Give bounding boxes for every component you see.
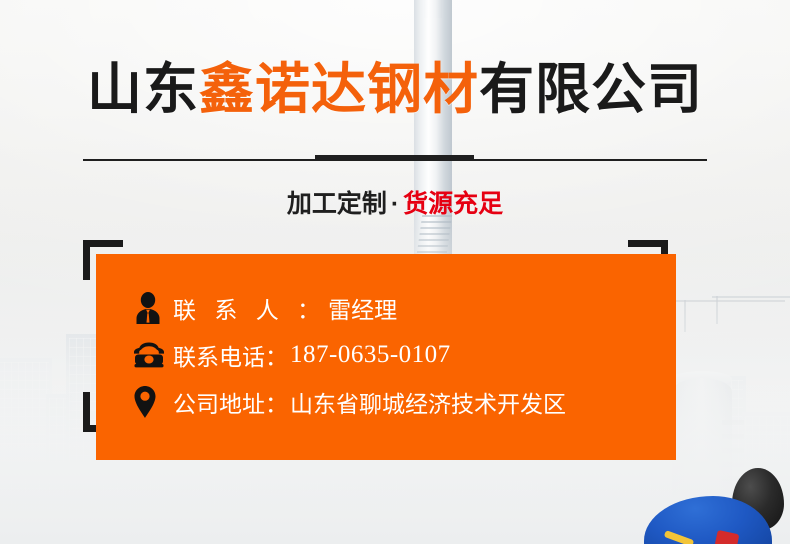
contact-row-address: 公司地址： 山东省聊城经济技术开发区 bbox=[133, 380, 660, 424]
person-icon bbox=[133, 288, 173, 328]
contact-row-person: 联 系 人 ： 雷经理 bbox=[133, 286, 660, 330]
contact-value-address: 山东省聊城经济技术开发区 bbox=[290, 385, 566, 419]
contact-label-person: 联 系 人 ： bbox=[173, 291, 326, 325]
location-pin-icon bbox=[133, 382, 173, 422]
contact-value-phone: 187-0635-0107 bbox=[290, 341, 451, 369]
subtitle-right: 货源充足 bbox=[403, 190, 503, 218]
contact-row-phone: 联系电话： 187-0635-0107 bbox=[133, 333, 660, 377]
contact-label-phone: 联系电话： bbox=[173, 338, 288, 372]
contact-value-person: 雷经理 bbox=[328, 291, 397, 325]
title-accent: 鑫诺达钢材 bbox=[199, 58, 479, 120]
telephone-icon bbox=[133, 335, 173, 375]
title-lead: 山东 bbox=[87, 58, 199, 120]
company-banner: 山东鑫诺达钢材有限公司 加工定制·货源充足 bbox=[0, 0, 790, 544]
title-tail: 有限公司 bbox=[479, 58, 703, 120]
company-subtitle: 加工定制·货源充足 bbox=[0, 192, 790, 217]
subtitle-separator: · bbox=[391, 190, 399, 218]
banner-content: 山东鑫诺达钢材有限公司 加工定制·货源充足 bbox=[0, 0, 790, 544]
company-title: 山东鑫诺达钢材有限公司 bbox=[0, 62, 790, 117]
subtitle-left: 加工定制 bbox=[287, 190, 387, 218]
divider-center-block bbox=[315, 155, 474, 161]
contact-card: 联 系 人 ： 雷经理 联系电话： 187-0635-0107 bbox=[96, 254, 676, 460]
contact-label-address: 公司地址： bbox=[173, 385, 288, 419]
contact-rows: 联 系 人 ： 雷经理 联系电话： 187-0635-0107 bbox=[133, 286, 660, 427]
